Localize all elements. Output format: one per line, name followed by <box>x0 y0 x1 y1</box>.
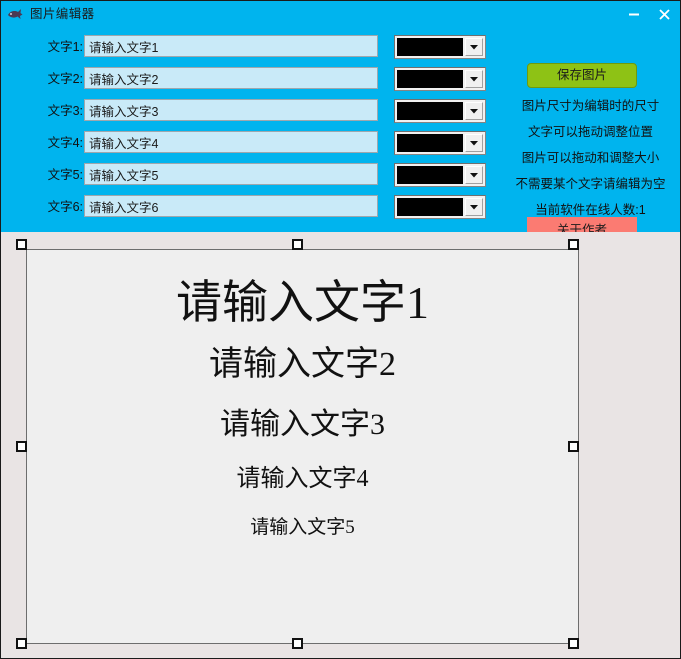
close-icon <box>657 7 672 22</box>
text-input-3[interactable] <box>84 99 378 121</box>
color-swatch-4 <box>397 134 463 152</box>
save-image-button[interactable]: 保存图片 <box>527 63 637 88</box>
title-bar: 图片编辑器 <box>1 1 681 27</box>
chevron-down-icon[interactable] <box>465 166 483 184</box>
image-canvas[interactable]: 请输入文字1 请输入文字2 请输入文字3 请输入文字4 请输入文字5 <box>26 249 579 644</box>
hint-line-4: 不需要某个文字请编辑为空 <box>499 173 681 192</box>
app-window: 图片编辑器 文字1: 文字2: <box>0 0 681 659</box>
color-combo-1[interactable] <box>394 35 486 59</box>
text-row-5-label: 文字5: <box>37 163 83 187</box>
canvas-text-3[interactable]: 请输入文字3 <box>27 408 578 441</box>
minimize-button[interactable] <box>619 1 649 27</box>
handle-bottom-right[interactable] <box>568 638 579 649</box>
minimize-icon <box>627 7 641 21</box>
window-title: 图片编辑器 <box>30 1 95 27</box>
color-swatch-1 <box>397 38 463 56</box>
text-row-4-label: 文字4: <box>37 131 83 155</box>
handle-bottom-center[interactable] <box>292 638 303 649</box>
text-input-4[interactable] <box>84 131 378 153</box>
handle-top-right[interactable] <box>568 239 579 250</box>
color-swatch-5 <box>397 166 463 184</box>
canvas-text-4[interactable]: 请输入文字4 <box>27 466 578 492</box>
canvas-text-5[interactable]: 请输入文字5 <box>27 518 578 539</box>
canvas-text-1[interactable]: 请输入文字1 <box>27 278 578 329</box>
canvas-text-2[interactable]: 请输入文字2 <box>27 346 578 383</box>
handle-top-center[interactable] <box>292 239 303 250</box>
chevron-down-icon[interactable] <box>465 134 483 152</box>
chevron-down-icon[interactable] <box>465 70 483 88</box>
color-swatch-2 <box>397 70 463 88</box>
side-panel: 保存图片 图片尺寸为编辑时的尺寸 文字可以拖动调整位置 图片可以拖动和调整大小 … <box>499 53 681 258</box>
form-panel: 文字1: 文字2: 文字3: <box>1 27 681 232</box>
hint-line-1: 图片尺寸为编辑时的尺寸 <box>499 95 681 114</box>
handle-bottom-left[interactable] <box>16 638 27 649</box>
fish-icon <box>6 5 24 23</box>
text-row-6-label: 文字6: <box>37 195 83 219</box>
color-swatch-3 <box>397 102 463 120</box>
close-button[interactable] <box>649 1 679 27</box>
color-swatch-6 <box>397 198 463 216</box>
hint-line-3: 图片可以拖动和调整大小 <box>499 147 681 166</box>
text-input-2[interactable] <box>84 67 378 89</box>
color-combo-4[interactable] <box>394 131 486 155</box>
chevron-down-icon[interactable] <box>465 198 483 216</box>
text-input-6[interactable] <box>84 195 378 217</box>
hint-line-2: 文字可以拖动调整位置 <box>499 121 681 140</box>
handle-middle-left[interactable] <box>16 441 27 452</box>
handle-middle-right[interactable] <box>568 441 579 452</box>
hint-line-5: 当前软件在线人数:1 <box>499 199 681 218</box>
chevron-down-icon[interactable] <box>465 38 483 56</box>
text-input-1[interactable] <box>84 35 378 57</box>
color-combo-3[interactable] <box>394 99 486 123</box>
text-input-5[interactable] <box>84 163 378 185</box>
color-combo-6[interactable] <box>394 195 486 219</box>
color-combo-5[interactable] <box>394 163 486 187</box>
text-row-3-label: 文字3: <box>37 99 83 123</box>
chevron-down-icon[interactable] <box>465 102 483 120</box>
color-combo-2[interactable] <box>394 67 486 91</box>
text-row-1-label: 文字1: <box>37 35 83 59</box>
text-row-2-label: 文字2: <box>37 67 83 91</box>
handle-top-left[interactable] <box>16 239 27 250</box>
editor-area: 请输入文字1 请输入文字2 请输入文字3 请输入文字4 请输入文字5 <box>1 232 681 659</box>
